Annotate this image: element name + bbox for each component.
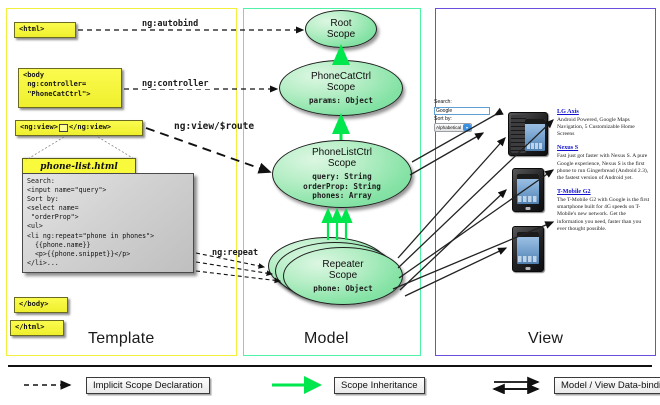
scope-repeater: RepeaterScope phone: Object: [283, 247, 403, 305]
scope-phonecatctrl-props: params: Object: [309, 96, 373, 105]
chevron-down-icon: ▾: [463, 124, 471, 131]
scope-phonelistctrl-props: query: String orderProp: String phones: …: [303, 172, 381, 200]
legend-label-databinding: Model / View Data-binding: [554, 377, 660, 394]
phone-name-link[interactable]: LG Axis: [557, 108, 651, 115]
phone-snippet: The T-Mobile G2 with Google is the first…: [557, 197, 651, 233]
panel-label-model: Model: [304, 330, 349, 348]
legend-item-databinding: Model / View Data-binding: [490, 376, 660, 394]
callout-code: Search: <input name="query"> Sort by: <s…: [22, 173, 194, 273]
phone-home-button: [526, 267, 531, 270]
connector-label-ng-controller: ng:controller: [140, 79, 211, 89]
connector-label-ng-view-route: ng:view/$route: [172, 121, 256, 132]
scope-phonecatctrl-title: PhoneCatCtrlScope: [311, 71, 371, 93]
legend-divider: [8, 365, 652, 367]
phone-body: [508, 112, 548, 156]
phone-snippet: Android Powered, Google Maps Navigation,…: [557, 117, 651, 138]
phone-name-link[interactable]: Nexus S: [557, 144, 651, 151]
code-box-body-close: </body>: [14, 297, 68, 313]
scope-phonelistctrl-title: PhoneListCtrlScope: [312, 147, 372, 169]
scope-root: RootScope: [305, 10, 377, 48]
scope-repeater-title: RepeaterScope: [322, 259, 363, 281]
legend-label-inheritance: Scope Inheritance: [334, 377, 425, 394]
phone-thumbnail-1: [512, 168, 544, 212]
phone-home-button: [526, 207, 531, 210]
ngview-slot-icon: [59, 124, 68, 132]
legend-label-implicit: Implicit Scope Declaration: [86, 377, 210, 394]
code-box-body-open: <body ng:controller= "PhoneCatCtrl">: [18, 68, 122, 108]
connector-label-ng-autobind: ng:autobind: [140, 19, 200, 29]
scope-phonelistctrl: PhoneListCtrlScope query: String orderPr…: [272, 140, 412, 208]
view-sort-select[interactable]: Alphabetical▾: [434, 123, 472, 132]
scope-root-title: RootScope: [327, 18, 355, 40]
phone-body: [512, 168, 544, 212]
view-search-label: Search:: [434, 100, 494, 106]
ngview-open-tag: <ng:view>: [20, 123, 58, 132]
list-item: T-Mobile G2 The T-Mobile G2 with Google …: [557, 188, 651, 233]
code-box-html-open: <html>: [14, 22, 76, 38]
green-arrow-icon: [270, 376, 328, 394]
phone-keyboard: [511, 115, 526, 153]
phone-snippet: Fast just got faster with Nexus S. A pur…: [557, 153, 651, 182]
template-callout: phone-list.html Search: <input name="que…: [22, 158, 200, 288]
code-box-html-close: </html>: [10, 320, 64, 336]
phone-screen: [525, 119, 545, 151]
phone-thumbnail-2: [512, 226, 544, 272]
double-arrow-icon: [490, 376, 548, 394]
phone-screen: [517, 232, 540, 264]
list-item: Nexus S Fast just got faster with Nexus …: [557, 144, 651, 182]
panel-label-template: Template: [88, 330, 155, 348]
phone-screen: [517, 174, 540, 204]
panel-label-view: View: [528, 330, 563, 348]
list-item: LG Axis Android Powered, Google Maps Nav…: [557, 108, 651, 138]
diagram-canvas: Template Model View <html> <body ng:cont…: [0, 0, 660, 405]
legend: Implicit Scope Declaration Scope Inherit…: [0, 372, 660, 402]
dashed-arrow-icon: [22, 376, 80, 394]
view-search-input[interactable]: Google: [434, 107, 490, 115]
view-sort-label: Sort by:: [434, 117, 494, 123]
ngview-close-tag: </ng:view>: [69, 123, 111, 132]
phone-body: [512, 226, 544, 272]
phone-thumbnail-0: [508, 112, 548, 156]
view-search-form: Search: Google Sort by: Alphabetical▾: [434, 100, 494, 132]
connector-label-ng-repeat: ng:repeat: [210, 248, 260, 258]
legend-item-implicit: Implicit Scope Declaration: [22, 376, 210, 394]
phone-name-link[interactable]: T-Mobile G2: [557, 188, 651, 195]
scope-phonecatctrl: PhoneCatCtrlScope params: Object: [279, 60, 403, 116]
legend-item-inheritance: Scope Inheritance: [270, 376, 425, 394]
view-phone-list: LG Axis Android Powered, Google Maps Nav…: [557, 108, 651, 239]
scope-repeater-props: phone: Object: [313, 284, 372, 293]
code-box-ngview: <ng:view></ng:view>: [15, 120, 143, 136]
view-sort-value: Alphabetical: [436, 125, 461, 130]
